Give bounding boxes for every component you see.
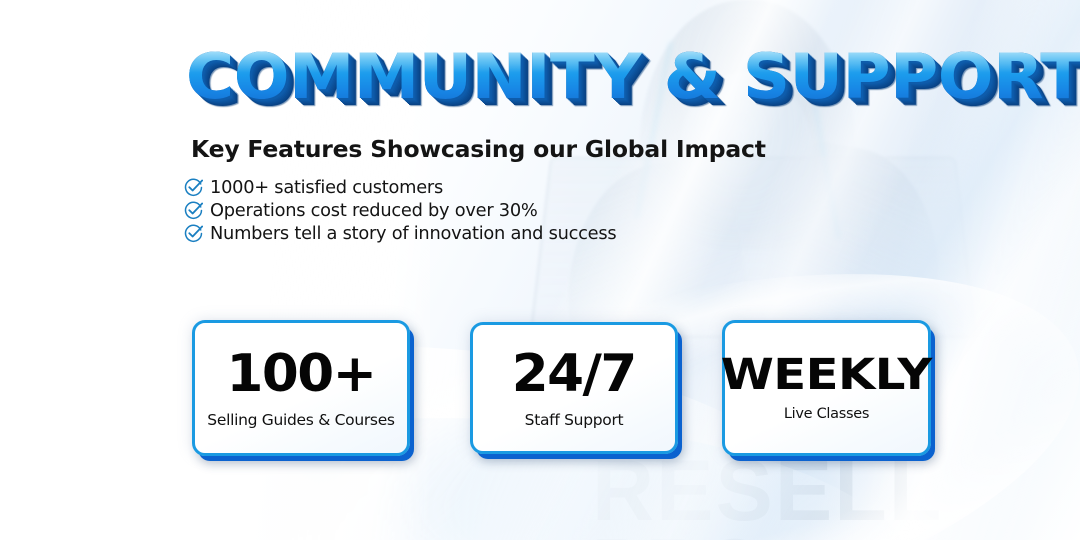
stat-value: 24/7: [512, 348, 636, 400]
stat-card-live-classes[interactable]: WEEKLY Live Classes: [722, 320, 931, 456]
stat-caption: Staff Support: [525, 411, 624, 429]
slide-canvas: RESELL PRO COMMUNITY & SUPPORT COMMUNITY…: [0, 0, 1080, 540]
stat-card-group: 100+ Selling Guides & Courses 24/7 Staff…: [0, 0, 1080, 540]
slide-content: COMMUNITY & SUPPORT COMMUNITY & SUPPORT …: [0, 0, 1080, 540]
stat-card-selling-guides[interactable]: 100+ Selling Guides & Courses: [192, 320, 410, 456]
stat-card-staff-support[interactable]: 24/7 Staff Support: [470, 322, 678, 454]
stat-value: WEEKLY: [721, 354, 932, 397]
stat-caption: Live Classes: [784, 406, 869, 422]
stat-caption: Selling Guides & Courses: [207, 411, 394, 429]
stat-value: 100+: [226, 348, 375, 400]
